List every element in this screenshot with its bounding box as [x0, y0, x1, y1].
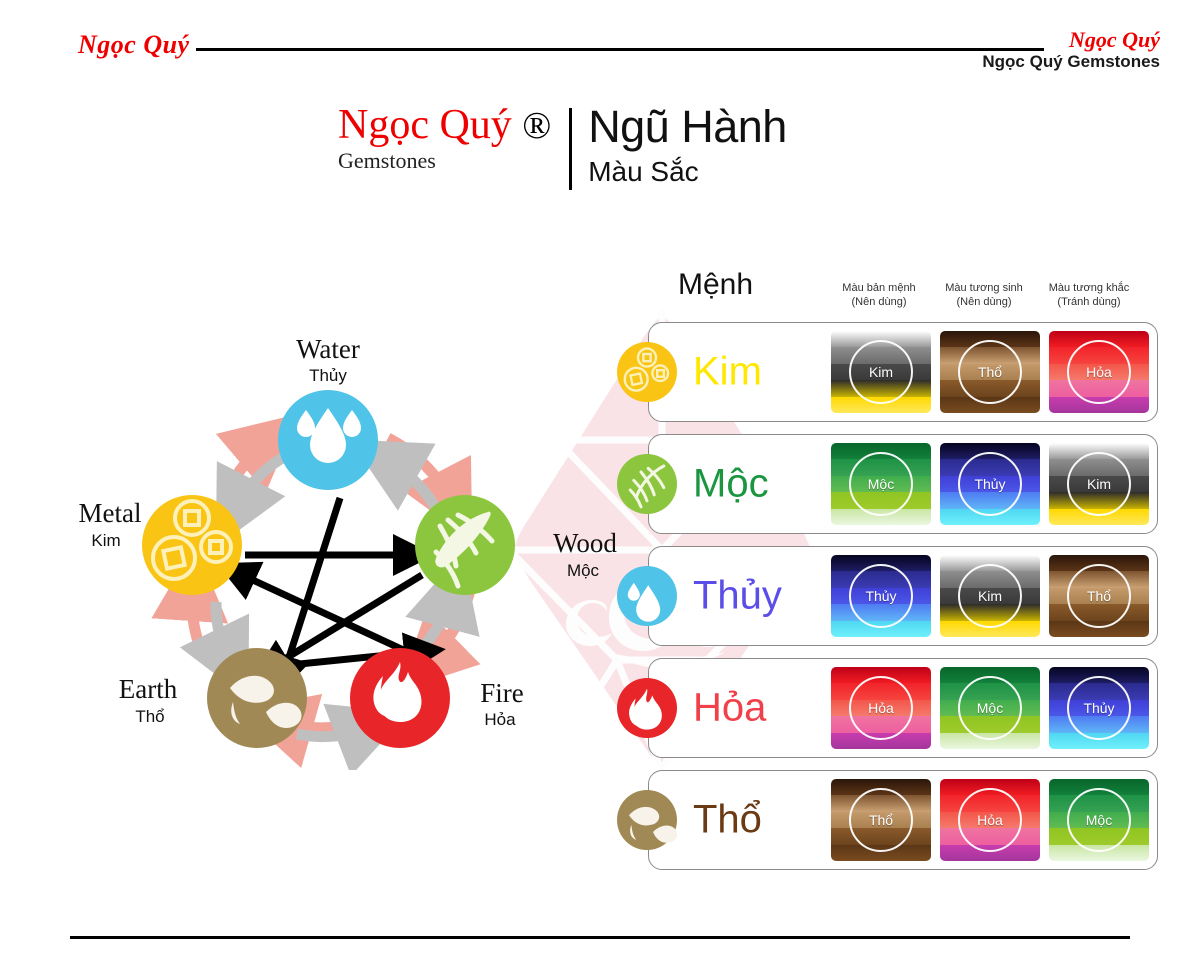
swatch-label: Mộc [1049, 812, 1149, 828]
swatch-label: Thổ [831, 812, 931, 828]
node-wood[interactable] [415, 495, 515, 595]
brand-subtitle: Gemstones [338, 148, 551, 174]
label-water-vi: Thủy [309, 366, 347, 385]
column-header-title: Màu tương khắc [1038, 282, 1140, 296]
five-element-cycle-diagram: Water Thủy Metal Kim Wood Mộc Earth Thổ … [70, 330, 630, 770]
color-swatch-3[interactable]: Thủy [1049, 667, 1149, 749]
color-swatch-2[interactable]: Kim [940, 555, 1040, 637]
element-row-label: Hỏa [693, 686, 766, 731]
swatch-label: Mộc [940, 700, 1040, 716]
title-block: Ngọc Quý ® Gemstones Ngũ Hành Màu Sắc [338, 104, 787, 192]
color-swatch-2[interactable]: Thủy [940, 443, 1040, 525]
swatch-label: Kim [831, 364, 931, 380]
page-title: Ngũ Hành [588, 104, 787, 150]
element-row-label: Thổ [693, 798, 762, 843]
element-row-label: Kim [693, 350, 762, 395]
brand-lockup: Ngọc Quý ® Gemstones [338, 104, 569, 174]
swatch-label: Kim [940, 588, 1040, 604]
label-wood-en: Wood [553, 528, 617, 558]
mesh-column-title: Mệnh [678, 268, 753, 302]
column-header-1: Màu bản mệnh(Nên dùng) [828, 282, 930, 310]
column-header-3: Màu tương khắc(Tránh dùng) [1038, 282, 1140, 310]
swatch-label: Hỏa [1049, 364, 1149, 380]
color-swatch-3[interactable]: Mộc [1049, 779, 1149, 861]
color-swatch-3[interactable]: Thổ [1049, 555, 1149, 637]
swatch-group: MộcThủyKim [822, 443, 1149, 525]
column-header-note: (Nên dùng) [828, 296, 930, 310]
color-swatch-1[interactable]: Mộc [831, 443, 931, 525]
swatch-label: Thủy [831, 588, 931, 604]
node-metal[interactable] [142, 495, 242, 595]
page-subtitle: Màu Sắc [588, 154, 787, 189]
column-header-note: (Tránh dùng) [1038, 296, 1140, 310]
swatch-group: HỏaMộcThủy [822, 667, 1149, 749]
element-row-thổ[interactable]: ThổThổHỏaMộc [648, 770, 1158, 870]
label-wood-vi: Mộc [567, 561, 600, 580]
column-header-title: Màu tương sinh [933, 282, 1035, 296]
swatch-label: Kim [1049, 476, 1149, 492]
node-earth[interactable] [207, 648, 307, 748]
swatch-group: ThủyKimThổ [822, 555, 1149, 637]
label-earth-vi: Thổ [135, 707, 164, 726]
label-fire-vi: Hỏa [484, 710, 516, 729]
element-rows: KimKimThổHỏaMộcMộcThủyKimThủyThủyKimThổH… [648, 322, 1158, 882]
element-row-thủy[interactable]: ThủyThủyKimThổ [648, 546, 1158, 646]
element-row-mộc[interactable]: MộcMộcThủyKim [648, 434, 1158, 534]
column-header-2: Màu tương sinh(Nên dùng) [933, 282, 1035, 310]
header-rule [196, 48, 1044, 51]
color-swatch-2[interactable]: Thổ [940, 331, 1040, 413]
label-metal-en: Metal [79, 498, 142, 528]
swatch-group: ThổHỏaMộc [822, 779, 1149, 861]
label-metal-vi: Kim [91, 531, 120, 550]
registered-icon: ® [522, 105, 551, 147]
swatch-label: Hỏa [940, 812, 1040, 828]
poster-page: Ngọc Quý Ngọc Quý Ngọc Quý Gemstones Ngọ… [0, 0, 1200, 972]
color-swatch-1[interactable]: Thủy [831, 555, 931, 637]
element-row-label: Mộc [693, 462, 769, 507]
brand-name-row: Ngọc Quý ® [338, 104, 551, 146]
color-swatch-1[interactable]: Hỏa [831, 667, 931, 749]
label-water-en: Water [296, 334, 360, 364]
column-headers: Màu bản mệnh(Nên dùng)Màu tương sinh(Nên… [828, 282, 1148, 310]
brand-name: Ngọc Quý [338, 102, 512, 148]
color-swatch-3[interactable]: Kim [1049, 443, 1149, 525]
color-swatch-3[interactable]: Hỏa [1049, 331, 1149, 413]
element-row-label: Thủy [693, 574, 782, 619]
node-fire[interactable] [350, 648, 450, 748]
color-swatch-2[interactable]: Hỏa [940, 779, 1040, 861]
water-drop-icon [617, 566, 677, 626]
coins-icon [617, 342, 677, 402]
flame-icon [617, 678, 677, 738]
label-fire-en: Fire [480, 678, 524, 708]
column-header-note: (Nên dùng) [933, 296, 1035, 310]
swatch-label: Thủy [940, 476, 1040, 492]
element-row-hỏa[interactable]: HỏaHỏaMộcThủy [648, 658, 1158, 758]
element-row-kim[interactable]: KimKimThổHỏa [648, 322, 1158, 422]
header-brand-right-name: Ngọc Quý [982, 28, 1160, 51]
label-earth-en: Earth [119, 674, 178, 704]
swatch-label: Hỏa [831, 700, 931, 716]
swatch-label: Thủy [1049, 700, 1149, 716]
overcoming-arrows [242, 498, 425, 670]
soil-mound-icon [617, 790, 677, 850]
title-texts: Ngũ Hành Màu Sắc [572, 104, 787, 189]
swatch-label: Thổ [1049, 588, 1149, 604]
footer-rule [70, 936, 1130, 939]
color-swatch-2[interactable]: Mộc [940, 667, 1040, 749]
swatch-label: Thổ [940, 364, 1040, 380]
swatch-group: KimThổHỏa [822, 331, 1149, 413]
node-water[interactable] [278, 390, 378, 490]
header-brand-right-sub: Ngọc Quý Gemstones [982, 51, 1160, 72]
color-swatch-1[interactable]: Thổ [831, 779, 931, 861]
column-header-title: Màu bản mệnh [828, 282, 930, 296]
wheat-leaf-icon [617, 454, 677, 514]
color-swatch-1[interactable]: Kim [831, 331, 931, 413]
header-brand-right: Ngọc Quý Ngọc Quý Gemstones [982, 28, 1160, 72]
header-brand-left: Ngọc Quý [78, 30, 190, 60]
swatch-label: Mộc [831, 476, 931, 492]
